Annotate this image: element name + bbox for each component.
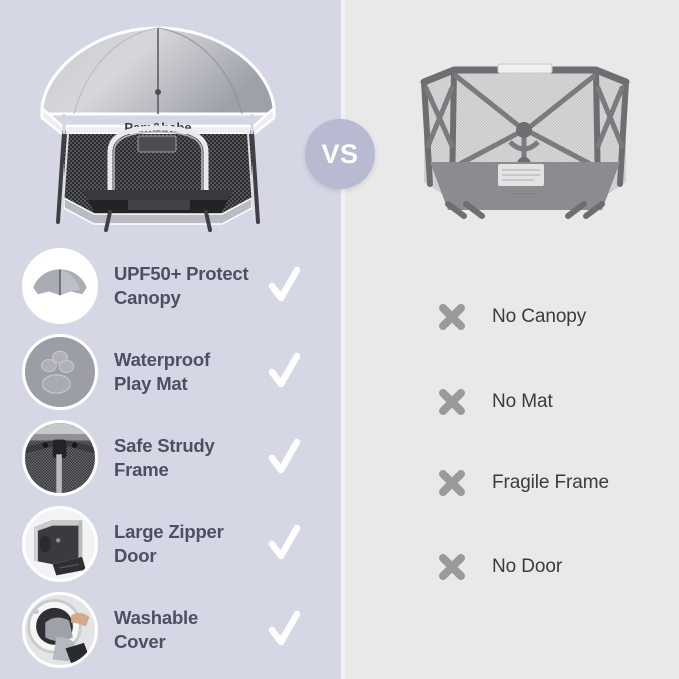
check-icon: [268, 436, 302, 480]
con-label: No Mat: [492, 391, 553, 413]
con-row: Fragile Frame: [435, 463, 609, 503]
feature-row: Waterproof Play Mat: [22, 330, 322, 414]
vs-badge-label: VS: [321, 139, 358, 170]
check-icon: [268, 264, 302, 308]
vs-badge: VS: [305, 119, 375, 189]
con-row: No Door: [435, 547, 562, 587]
feature-row: Large Zipper Door: [22, 502, 322, 586]
left-product-image: Pam&babe: [22, 22, 294, 234]
comparison-infographic: Pam&babe: [0, 0, 679, 679]
zipper-door-icon: [22, 506, 98, 582]
con-row: No Canopy: [435, 297, 586, 337]
con-label: Fragile Frame: [492, 472, 609, 494]
x-mark-icon: [435, 550, 469, 584]
feature-label: Large Zipper Door: [114, 520, 266, 568]
con-row: No Mat: [435, 382, 553, 422]
svg-text:———: ———: [512, 189, 536, 198]
check-icon: [268, 522, 302, 566]
water-droplets-icon: [22, 334, 98, 410]
con-label: No Canopy: [492, 306, 586, 328]
x-mark-icon: [435, 300, 469, 334]
washing-machine-icon: [22, 592, 98, 668]
feature-label: Waterproof Play Mat: [114, 348, 266, 396]
feature-label: Washable Cover: [114, 606, 266, 654]
con-label: No Door: [492, 556, 562, 578]
feature-label: Safe Strudy Frame: [114, 434, 266, 482]
feature-label: UPF50+ Protect Canopy: [114, 262, 266, 310]
feature-row: Safe Strudy Frame: [22, 416, 322, 500]
feature-row: Washable Cover: [22, 588, 322, 672]
check-icon: [268, 350, 302, 394]
canopy-icon: [22, 248, 98, 324]
frame-joint-icon: [22, 420, 98, 496]
x-mark-icon: [435, 385, 469, 419]
check-icon: [268, 608, 302, 652]
panel-divider: [341, 0, 345, 679]
feature-row: UPF50+ Protect Canopy: [22, 244, 322, 328]
x-mark-icon: [435, 466, 469, 500]
right-product-image: ———: [406, 34, 644, 234]
